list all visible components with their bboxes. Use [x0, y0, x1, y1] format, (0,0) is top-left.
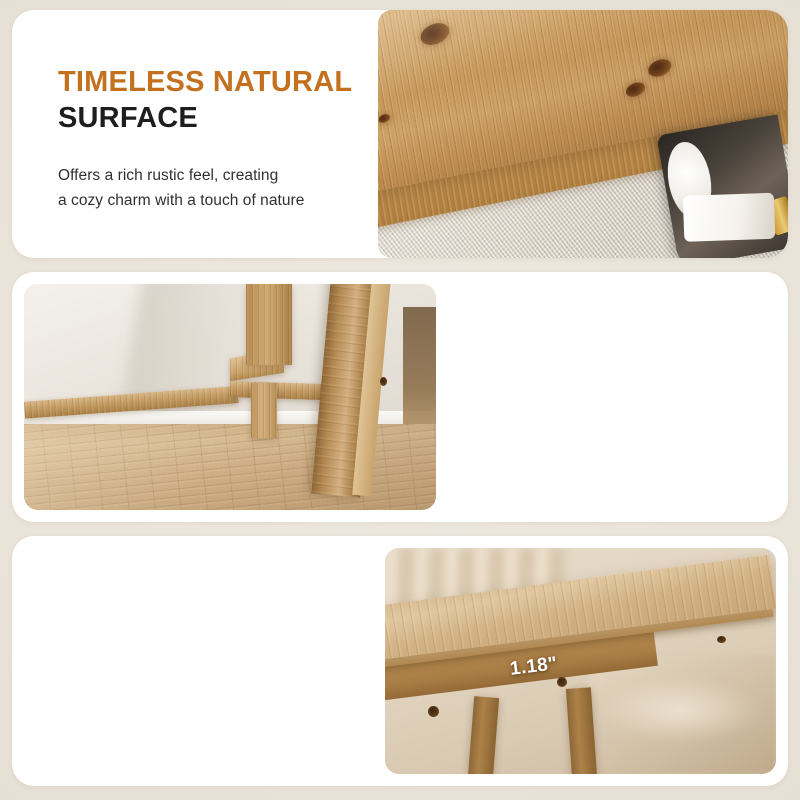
headline-accent: TIMELESS NATURAL: [58, 66, 388, 98]
wood-peg: [557, 677, 567, 687]
background-doorway: [403, 307, 436, 425]
feature-text-timeless-natural-surface: TIMELESS NATURAL SURFACE Offers a rich r…: [58, 66, 388, 213]
product-feature-board: TIMELESS NATURAL SURFACE Offers a rich r…: [0, 0, 800, 800]
description-line: a cozy charm with a touch of nature: [58, 188, 388, 213]
tabletop-thickness-photo: 1.18": [385, 548, 776, 774]
foreground-object: [656, 114, 788, 258]
bed-blur: [588, 656, 776, 774]
description-line: Offers a rich rustic feel, creating: [58, 163, 388, 188]
feature-description: Offers a rich rustic feel, creating a co…: [58, 163, 388, 213]
table-apron: [246, 284, 291, 365]
center-post: [251, 383, 278, 437]
object-highlight: [766, 196, 788, 236]
headline-main: SURFACE: [58, 101, 388, 136]
feature-card-thickened-top-board: THICKENED TOP BOARD Delivers extra stren…: [12, 536, 788, 786]
table-leg-joinery-photo: [24, 284, 436, 510]
feature-card-sturdy-construction: STURDY CONSTRUCTION Provides unwavering …: [12, 272, 788, 522]
wood-plank-surface-photo: [378, 10, 788, 258]
feature-card-timeless-natural-surface: TIMELESS NATURAL SURFACE Offers a rich r…: [12, 10, 788, 258]
